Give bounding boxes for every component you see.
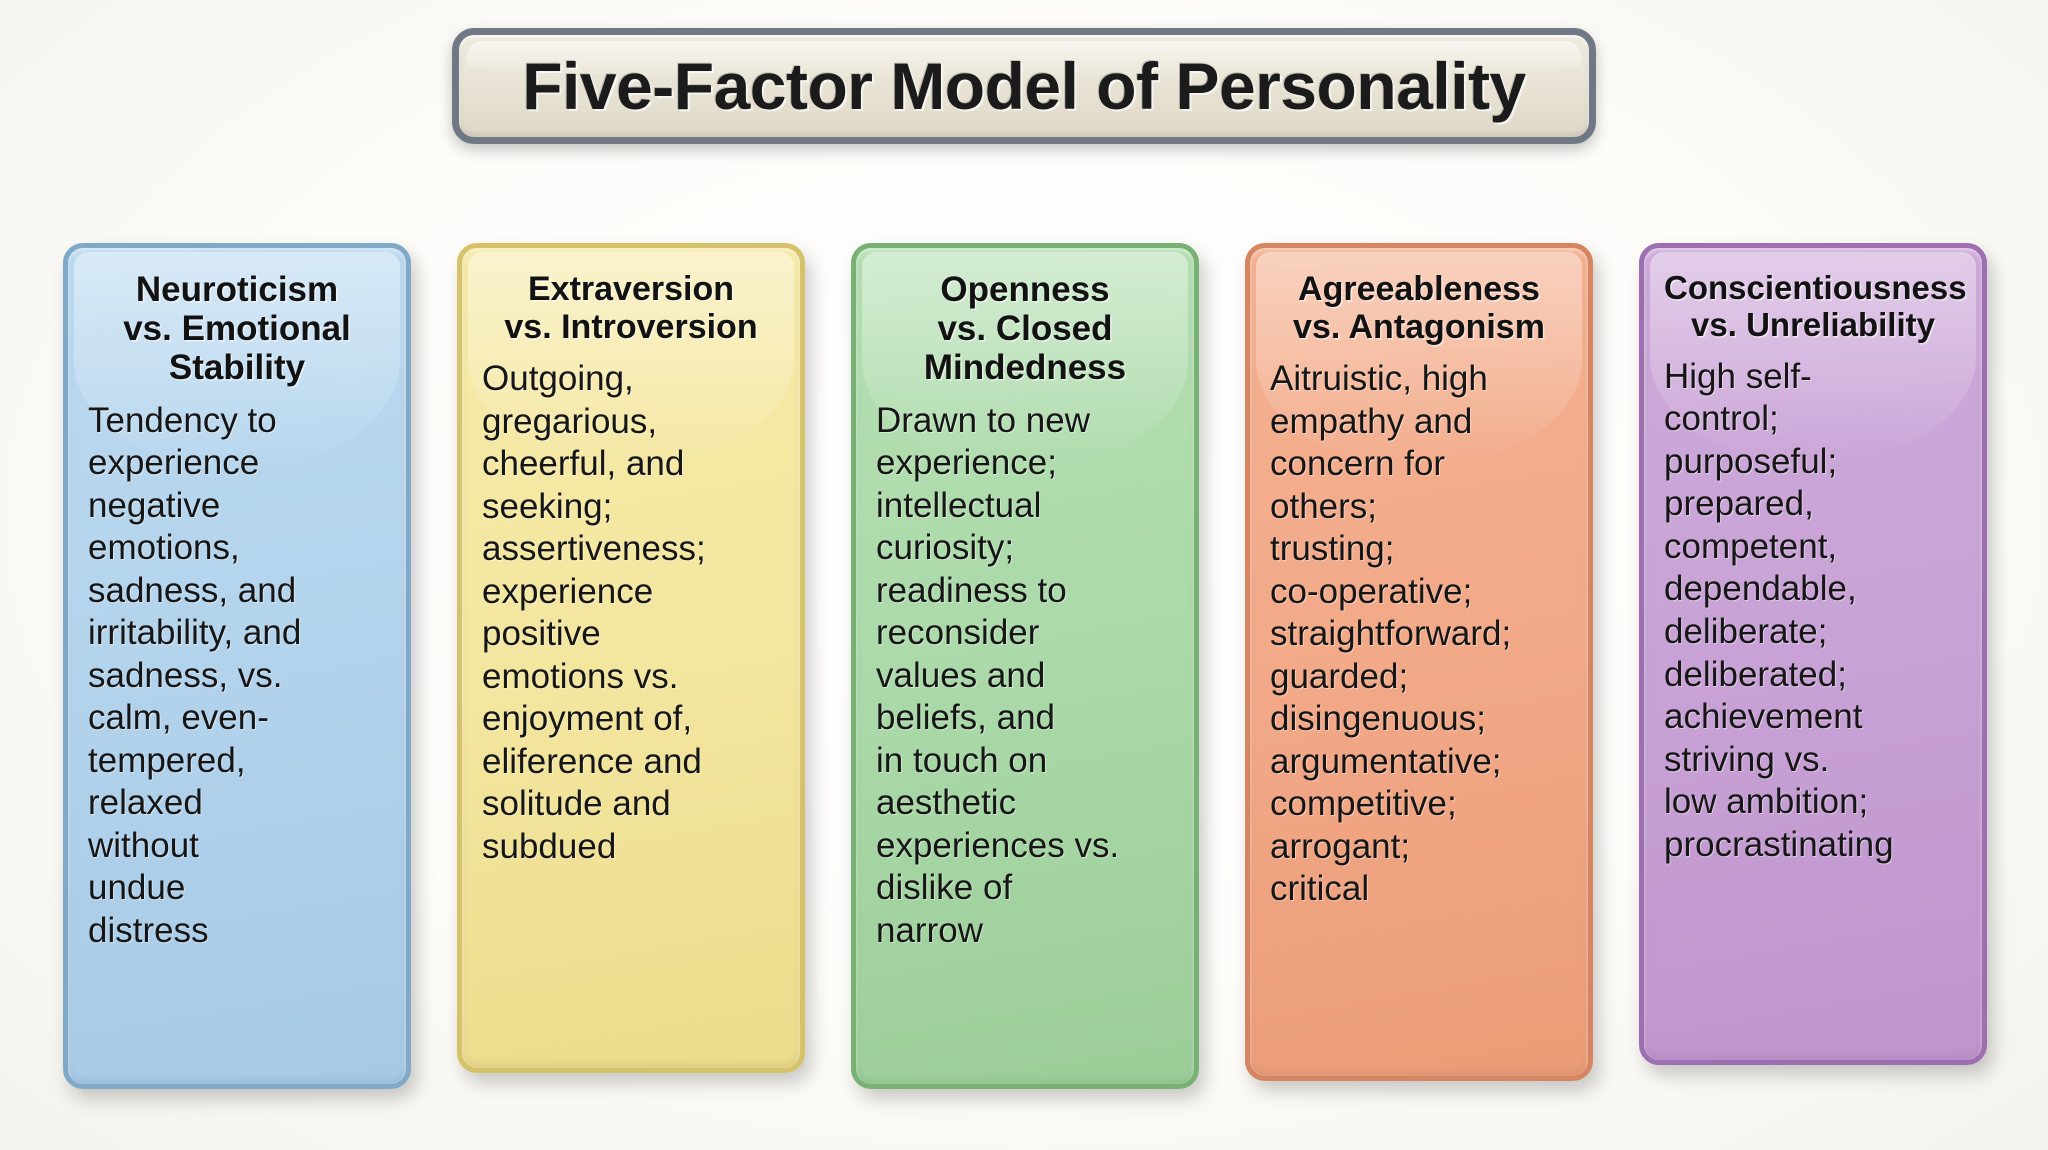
factor-card-description: Aitruistic, high empathy and concern for… bbox=[1270, 358, 1568, 911]
factor-card-description: High self- control; purposeful; prepared… bbox=[1664, 356, 1962, 866]
factor-card-heading: Conscientiousness vs. Unreliability bbox=[1664, 270, 1962, 344]
factor-card-description: Drawn to new experience; intellectual cu… bbox=[876, 400, 1174, 953]
factor-card-heading: Extraversion vs. Introversion bbox=[482, 270, 780, 346]
factor-card-heading: Openness vs. Closed Mindedness bbox=[876, 270, 1174, 388]
factor-card-heading: Neuroticism vs. Emotional Stability bbox=[88, 270, 386, 388]
factor-card-conscientiousness: Conscientiousness vs. Unreliability High… bbox=[1639, 243, 1987, 1065]
factor-card-heading: Agreeableness vs. Antagonism bbox=[1270, 270, 1568, 346]
factor-card-agreeableness: Agreeableness vs. Antagonism Aitruistic,… bbox=[1245, 243, 1593, 1081]
title-banner: Five-Factor Model of Personality bbox=[452, 28, 1596, 144]
factor-card-openness: Openness vs. Closed Mindedness Drawn to … bbox=[851, 243, 1199, 1089]
factor-card-neuroticism: Neuroticism vs. Emotional Stability Tend… bbox=[63, 243, 411, 1089]
factor-card-extraversion: Extraversion vs. Introversion Outgoing, … bbox=[457, 243, 805, 1073]
factor-card-row: Neuroticism vs. Emotional Stability Tend… bbox=[0, 243, 2048, 1093]
factor-card-description: Tendency to experience negative emotions… bbox=[88, 400, 386, 953]
factor-card-description: Outgoing, gregarious, cheerful, and seek… bbox=[482, 358, 780, 868]
page-title: Five-Factor Model of Personality bbox=[522, 48, 1526, 124]
diagram-canvas: Five-Factor Model of Personality Neuroti… bbox=[0, 0, 2048, 1150]
